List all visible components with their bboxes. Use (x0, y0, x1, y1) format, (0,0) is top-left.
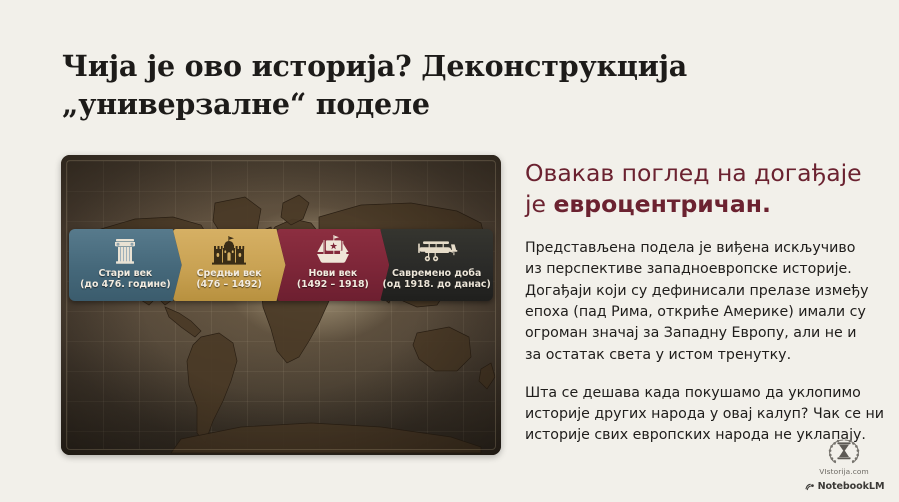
page-title: Чија је ово историја? Деконструкција „ун… (62, 48, 762, 124)
watermark-app: NotebookLM (801, 477, 887, 496)
segment-range: (до 476. године) (80, 279, 171, 290)
hourglass-laurel-icon (801, 436, 887, 466)
biplane-icon (415, 234, 459, 266)
greek-column-icon (112, 234, 138, 266)
segment-label: Савремено доба (392, 268, 481, 279)
lead-line-2: је евроцентричан. (525, 189, 887, 220)
castle-icon (211, 234, 247, 266)
segment-range: (476 – 1492) (196, 279, 261, 290)
caravel-ship-icon (314, 234, 352, 266)
timeline-segment-srednji-vek[interactable]: Средњи век (476 – 1492) (173, 229, 286, 301)
paragraph-1-line-1: Представљена подела је виђена искључиво (525, 238, 887, 259)
map-inner-border (66, 160, 496, 450)
segment-label: Стари век (98, 268, 152, 279)
lead-line-1: Овакав поглед на догађаје (525, 158, 887, 189)
lead-line-2-emphasis: евроцентричан. (553, 190, 770, 218)
world-map-panel: Стари век (до 476. године) (61, 155, 501, 455)
page-title-line-1: Чија је ово историја? Деконструкција (62, 48, 762, 86)
segment-range: (од 1918. до данас) (382, 279, 490, 290)
lead-statement: Овакав поглед на догађаје је евроцентрич… (525, 158, 887, 219)
sidebar-content: Овакав поглед на догађаје је евроцентрич… (525, 158, 887, 464)
segment-label: Средњи век (197, 268, 262, 279)
watermark: VIstorija.com NotebookLM (801, 436, 887, 496)
paragraph-2-line-2: историје других народа у овај калуп? Чак… (525, 404, 887, 425)
paragraph-1-line-3: Догађаји који су дефинисали прелазе изме… (525, 281, 887, 302)
segment-range: (1492 – 1918) (297, 279, 369, 290)
paragraph-1-line-5: огроман значај за Западну Европу, али не… (525, 323, 887, 344)
timeline-segment-savremeno-doba[interactable]: Савремено доба (од 1918. до данас) (380, 229, 493, 301)
paragraph-1-line-4: епоха (пад Рима, откриће Америке) имали … (525, 302, 887, 323)
paragraph-1-line-6: за остатак света у истом тренутку. (525, 345, 887, 366)
notebooklm-icon (804, 477, 815, 496)
watermark-app-label: NotebookLM (818, 481, 885, 492)
lead-line-2-prefix: је (525, 190, 553, 218)
timeline: Стари век (до 476. године) (69, 229, 493, 301)
paragraph-1-line-2: из перспективе западноевропске историје. (525, 259, 887, 280)
watermark-site: VIstorija.com (801, 467, 887, 476)
segment-label: Нови век (309, 268, 358, 279)
timeline-segment-novi-vek[interactable]: Нови век (1492 – 1918) (277, 229, 390, 301)
paragraph-2-line-1: Шта се дешава када покушамо да уклопимо (525, 383, 887, 404)
paragraph-1: Представљена подела је виђена искључиво … (525, 238, 887, 366)
timeline-segment-stari-vek[interactable]: Стари век (до 476. године) (69, 229, 182, 301)
page-title-line-2: „универзалне“ поделе (62, 86, 762, 124)
